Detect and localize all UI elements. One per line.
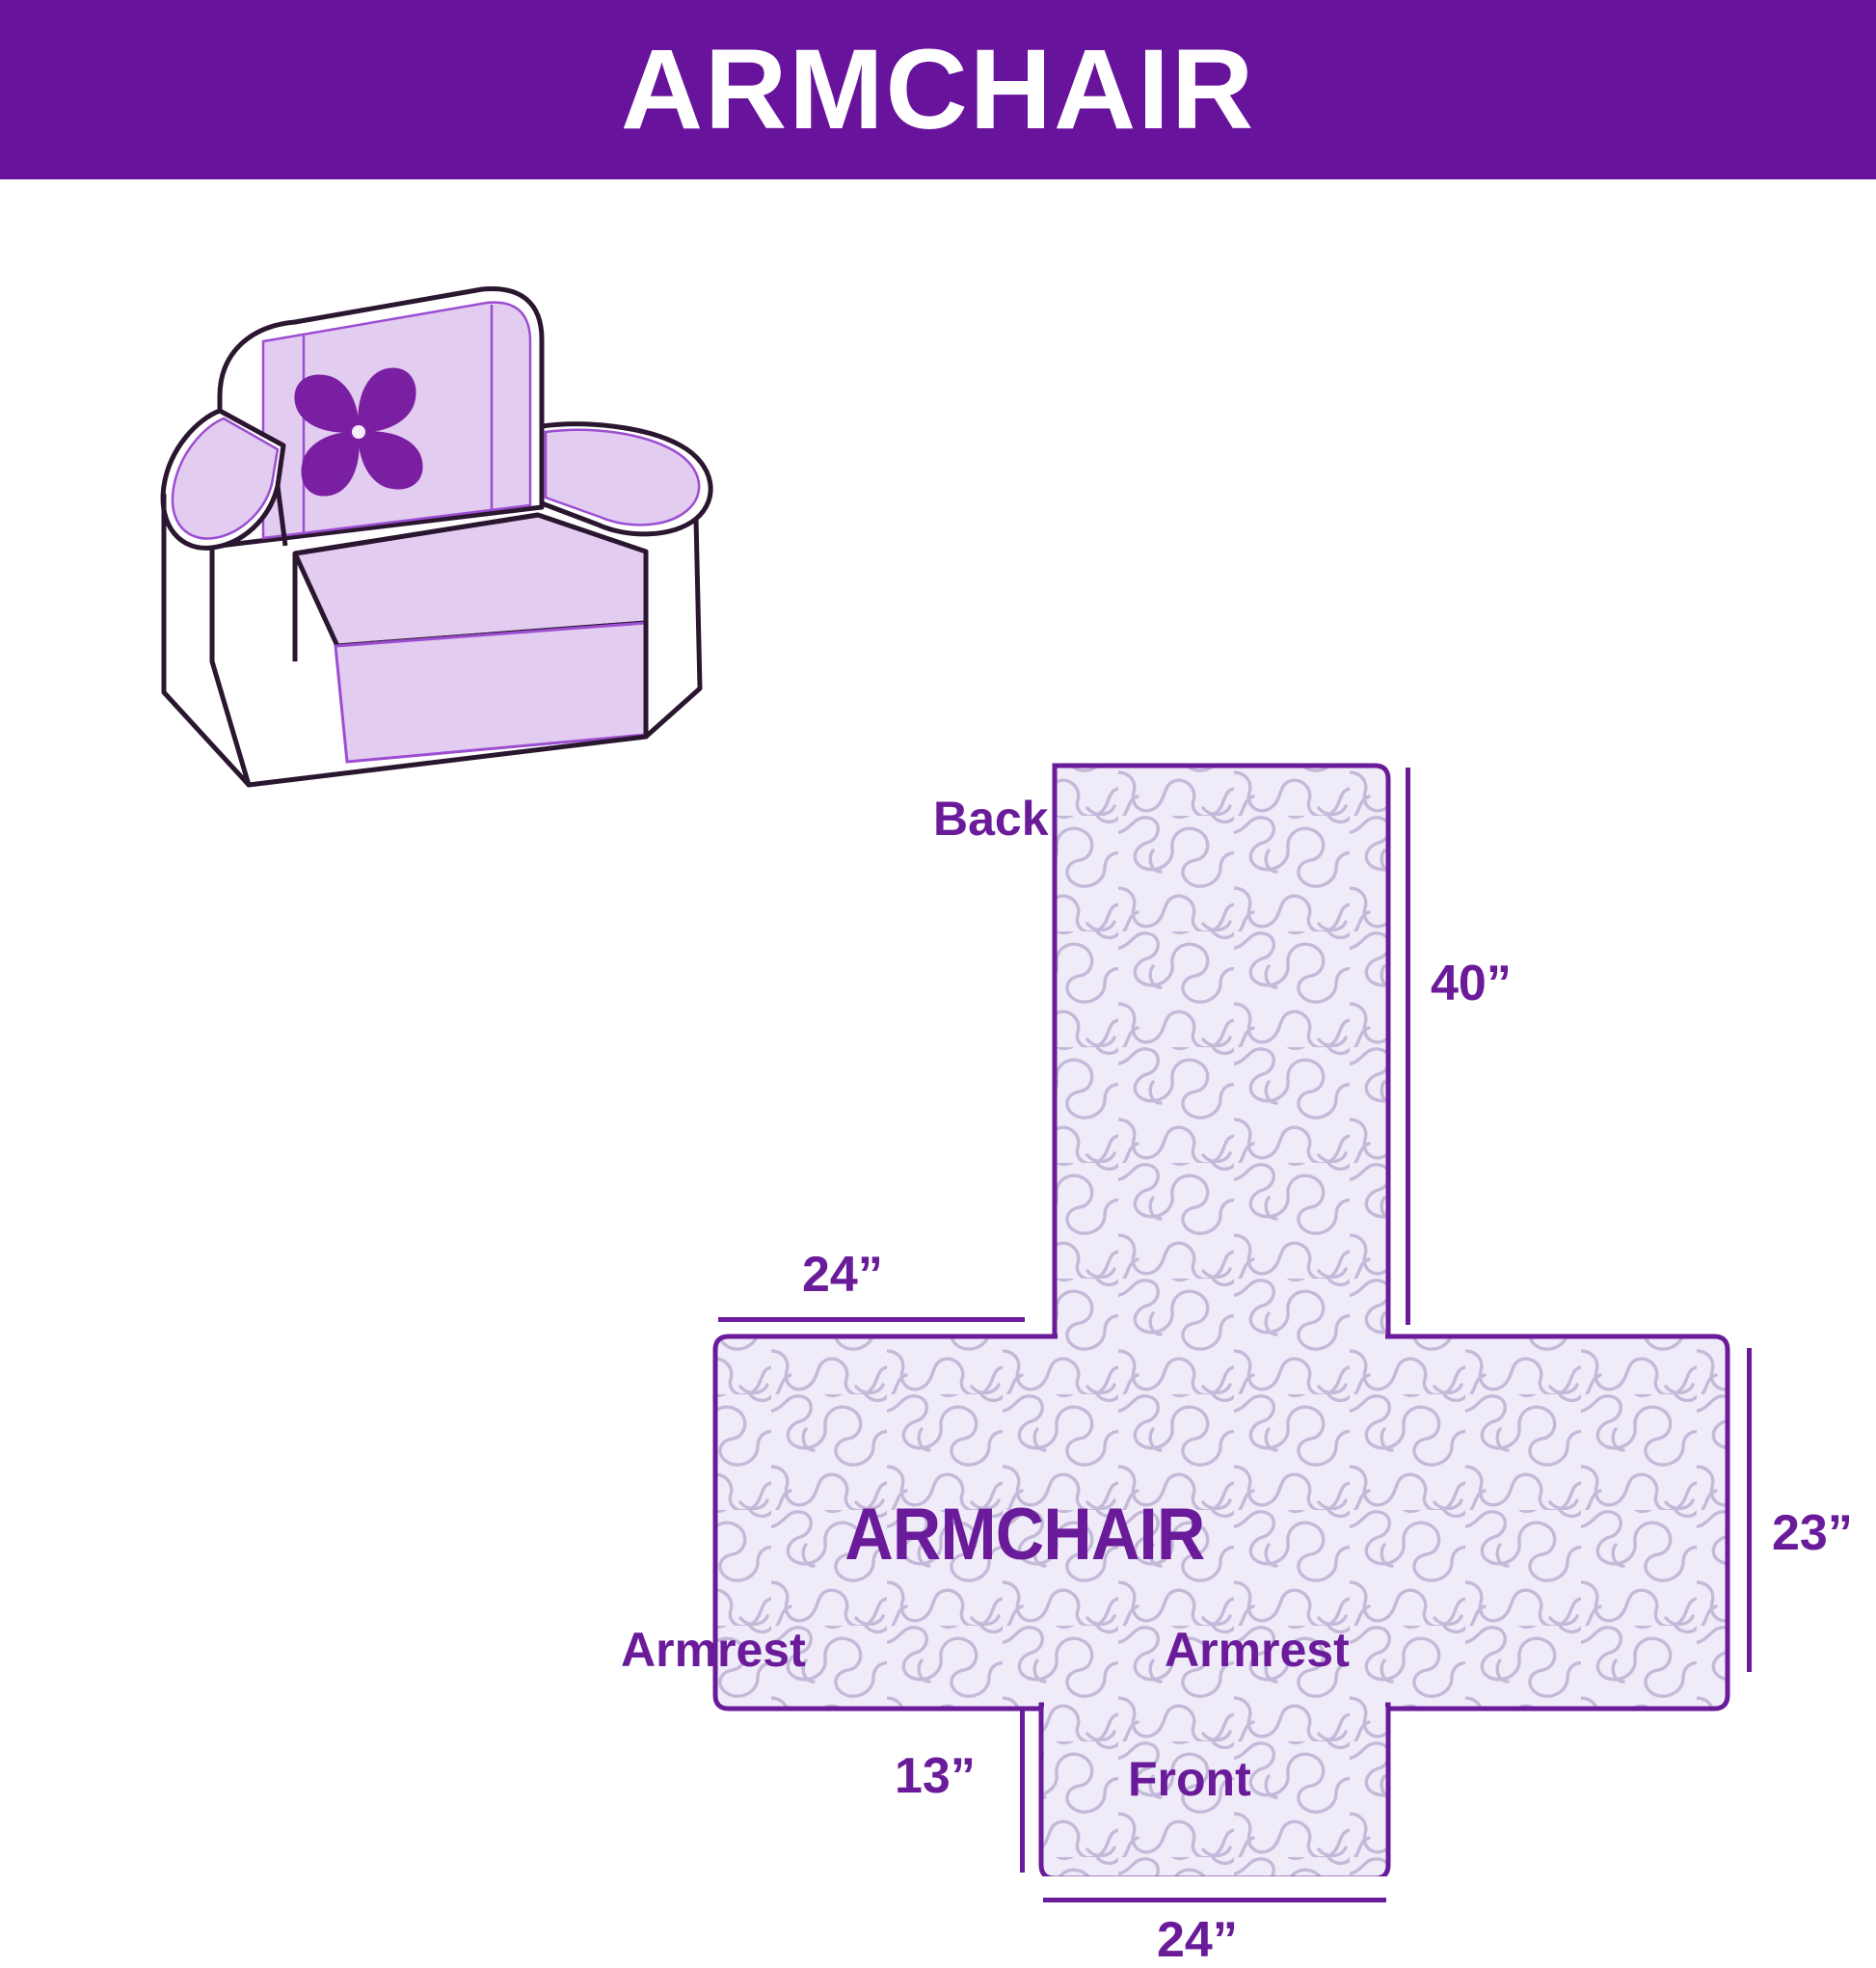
dimension-label-back-width: 24”	[802, 1250, 883, 1300]
dimension-label-back-height: 40”	[1431, 958, 1512, 1009]
dimension-line-back-height	[1406, 768, 1410, 1325]
back-panel	[1055, 766, 1388, 1341]
dimension-label-armrest-depth: 23”	[1772, 1508, 1853, 1558]
panel-label-armrest-right: Armrest	[1165, 1626, 1350, 1674]
panel-label-armrest-left: Armrest	[621, 1626, 806, 1674]
panel-label-front: Front	[1128, 1755, 1251, 1803]
dimension-line-back-width	[718, 1317, 1025, 1322]
dimension-label-front-height: 13”	[895, 1751, 976, 1801]
content-canvas: Back ARMCHAIR Armrest Armrest Front 40” …	[0, 179, 1876, 1876]
panel-label-center: ARMCHAIR	[844, 1498, 1204, 1572]
page-title: ARMCHAIR	[621, 33, 1255, 147]
dimension-line-armrest-depth	[1747, 1348, 1752, 1672]
dimension-line-front-height	[1020, 1709, 1025, 1873]
dimension-label-front-width: 24”	[1157, 1915, 1238, 1965]
panel-label-back: Back	[933, 795, 1049, 843]
dimension-line-front-width	[1043, 1898, 1386, 1902]
front-armrest-seam-cover	[1044, 1701, 1385, 1712]
header-banner: ARMCHAIR	[0, 0, 1876, 179]
back-armrest-seam-cover	[1058, 1333, 1385, 1344]
pattern-diagram: Back ARMCHAIR Armrest Armrest Front 40” …	[540, 469, 1876, 1876]
